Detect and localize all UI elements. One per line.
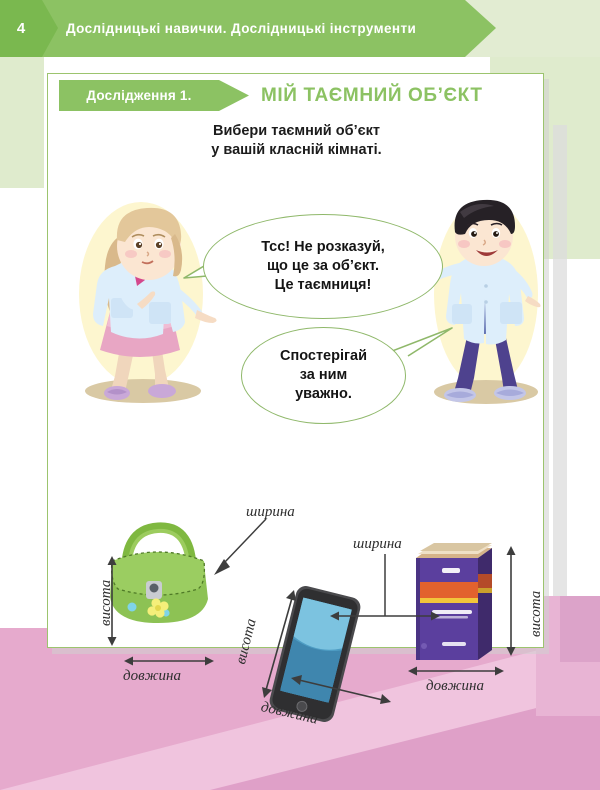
secret-bubble-line-3: Це таємниця! — [261, 276, 385, 295]
book-height-label: висота — [528, 591, 545, 637]
observe-bubble-line-3: уважно. — [280, 385, 367, 404]
observe-bubble-text: Спостерігай за ним уважно. — [280, 347, 367, 404]
secret-bubble: Тсс! Не розказуй, що це за об’єкт. Це та… — [203, 214, 443, 319]
girl-scientist — [63, 194, 218, 409]
instruction-line-1: Вибери таємний об’єкт — [48, 122, 545, 141]
left-background-band — [0, 57, 44, 188]
research-tab-label: Дослідження 1. — [59, 80, 219, 111]
handbag-height-label: висота — [98, 580, 115, 626]
pink-corner-accent — [560, 596, 600, 662]
handbag-width-label: ширина — [246, 504, 295, 521]
book-length-label: довжина — [426, 678, 484, 695]
secret-bubble-line-2: що це за об’єкт. — [261, 257, 385, 276]
observe-bubble: Спостерігай за ним уважно. — [241, 327, 406, 424]
observe-bubble-line-2: за ним — [280, 366, 367, 385]
secret-bubble-line-1: Тсс! Не розказуй, — [261, 238, 385, 257]
instruction-text: Вибери таємний об’єкт у вашій класній кі… — [48, 122, 545, 160]
header-title: Дослідницькі навички. Дослідницькі інстр… — [66, 0, 416, 57]
book-length-arrow — [408, 664, 504, 678]
instruction-line-2: у вашій класній кімнаті. — [48, 141, 545, 160]
right-band-shadow — [553, 125, 567, 605]
boy-scientist — [416, 192, 546, 412]
handbag-length-arrow — [124, 654, 214, 668]
secret-bubble-text: Тсс! Не розказуй, що це за об’єкт. Це та… — [261, 238, 385, 295]
card-banner: Дослідження 1. МІЙ ТАЄМНИЙ ОБ’ЄКТ — [48, 74, 545, 116]
handbag-length-label: довжина — [123, 668, 181, 685]
textbook-page: 4 Дослідницькі навички. Дослідницькі інс… — [0, 0, 600, 790]
tablet-length-arrow — [291, 674, 391, 708]
activity-card: Дослідження 1. МІЙ ТАЄМНИЙ ОБ’ЄКТ Вибери… — [47, 73, 544, 648]
card-title: МІЙ ТАЄМНИЙ ОБ’ЄКТ — [261, 80, 483, 111]
middle-width-label: ширина — [353, 536, 402, 553]
book-height-arrow — [504, 546, 518, 656]
page-number: 4 — [0, 0, 42, 57]
middle-width-arrow — [330, 554, 440, 636]
observe-bubble-line-1: Спостерігай — [280, 347, 367, 366]
